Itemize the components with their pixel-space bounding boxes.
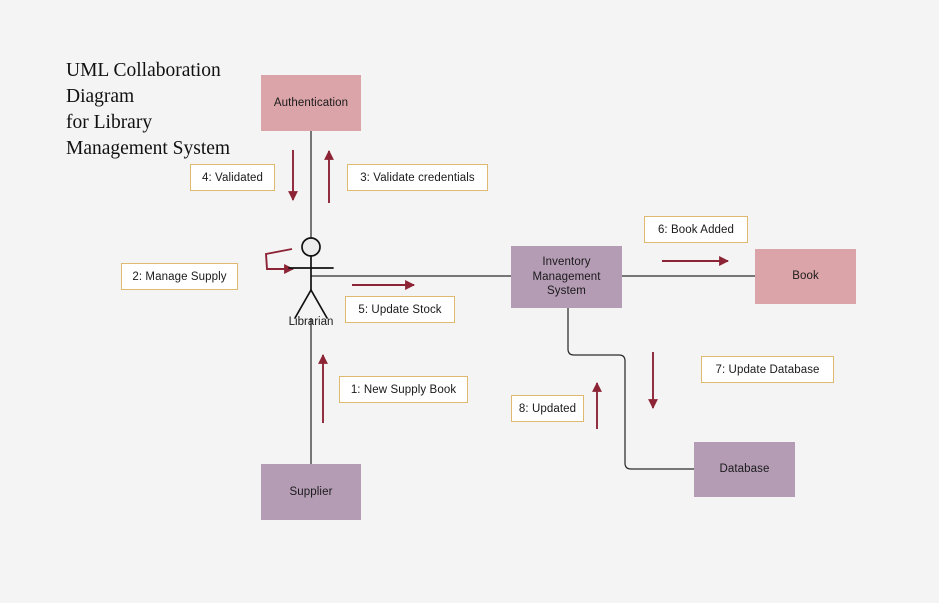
arrow-2-manage-supply bbox=[266, 249, 293, 269]
message-label-4-validated[interactable]: 4: Validated bbox=[190, 164, 275, 191]
node-supplier[interactable]: Supplier bbox=[261, 464, 361, 520]
node-authentication[interactable]: Authentication bbox=[261, 75, 361, 131]
message-5-text: 5: Update Stock bbox=[358, 304, 441, 316]
message-3-text: 3: Validate credentials bbox=[360, 172, 475, 184]
link-inventory-database bbox=[568, 308, 694, 469]
message-label-5-update-stock[interactable]: 5: Update Stock bbox=[345, 296, 455, 323]
node-book-label: Book bbox=[792, 269, 819, 283]
message-6-text: 6: Book Added bbox=[658, 224, 734, 236]
message-label-6-book-added[interactable]: 6: Book Added bbox=[644, 216, 748, 243]
node-supplier-label: Supplier bbox=[290, 485, 333, 499]
actor-leg-right bbox=[311, 290, 327, 318]
message-7-text: 7: Update Database bbox=[715, 364, 819, 376]
node-inventory-management-system[interactable]: Inventory Management System bbox=[511, 246, 622, 308]
message-2-text: 2: Manage Supply bbox=[132, 271, 226, 283]
actor-librarian-label: Librarian bbox=[281, 316, 341, 328]
message-label-2-manage-supply[interactable]: 2: Manage Supply bbox=[121, 263, 238, 290]
node-authentication-label: Authentication bbox=[274, 96, 348, 110]
node-database[interactable]: Database bbox=[694, 442, 795, 497]
node-inventory-label: Inventory Management System bbox=[532, 255, 600, 298]
node-database-label: Database bbox=[719, 462, 769, 476]
actor-head-icon bbox=[302, 238, 320, 256]
message-label-3-validate-credentials[interactable]: 3: Validate credentials bbox=[347, 164, 488, 191]
message-label-1-new-supply-book[interactable]: 1: New Supply Book bbox=[339, 376, 468, 403]
message-label-8-updated[interactable]: 8: Updated bbox=[511, 395, 584, 422]
message-8-text: 8: Updated bbox=[519, 403, 576, 415]
message-label-7-update-database[interactable]: 7: Update Database bbox=[701, 356, 834, 383]
message-4-text: 4: Validated bbox=[202, 172, 263, 184]
node-book[interactable]: Book bbox=[755, 249, 856, 304]
diagram-canvas: UML Collaboration Diagram for Library Ma… bbox=[0, 0, 939, 603]
message-1-text: 1: New Supply Book bbox=[351, 384, 456, 396]
actor-leg-left bbox=[295, 290, 311, 318]
